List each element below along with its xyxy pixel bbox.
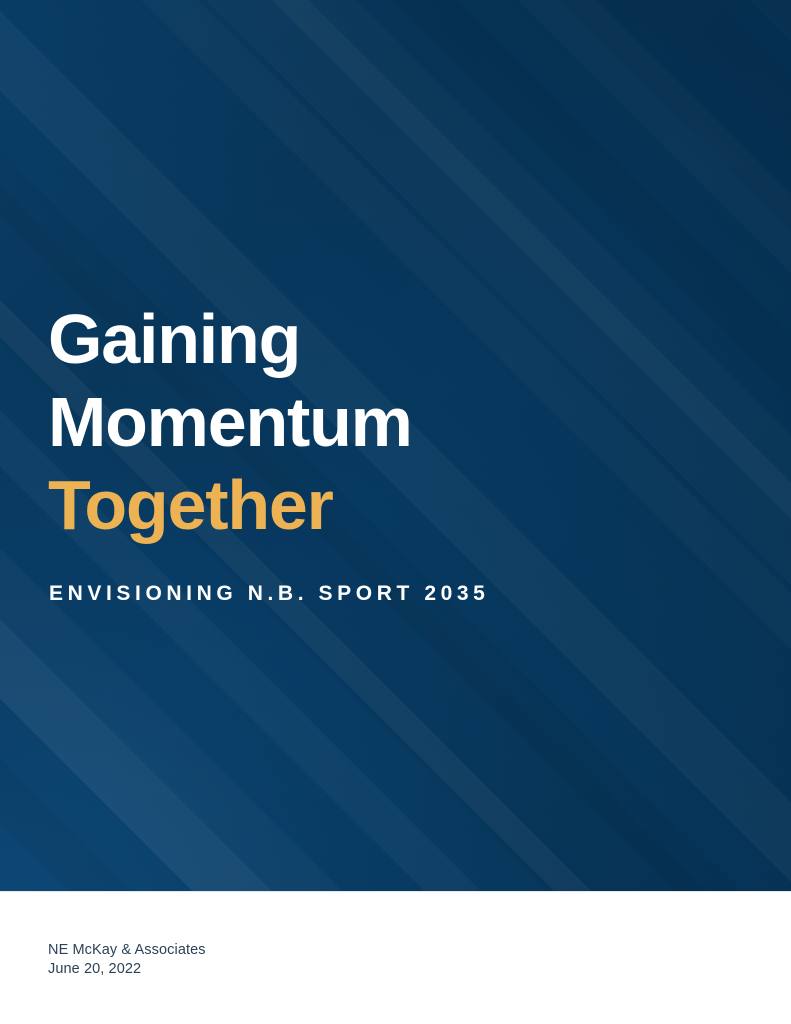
title-line-2: Momentum [48, 381, 688, 464]
page-title: Gaining Momentum Together [48, 298, 688, 547]
footer-band: NE McKay & Associates June 20, 2022 [0, 891, 791, 1024]
footer-credit: NE McKay & Associates June 20, 2022 [48, 941, 206, 979]
page-subtitle: ENVISIONING N.B. SPORT 2035 [49, 580, 489, 608]
title-line-1: Gaining [48, 298, 688, 381]
footer-divider [0, 891, 791, 892]
title-line-3-accent: Together [48, 464, 688, 547]
footer-author: NE McKay & Associates [48, 941, 206, 960]
hero-panel: Gaining Momentum Together ENVISIONING N.… [0, 0, 791, 891]
cover-page: Gaining Momentum Together ENVISIONING N.… [0, 0, 791, 1024]
footer-date: June 20, 2022 [48, 960, 206, 979]
